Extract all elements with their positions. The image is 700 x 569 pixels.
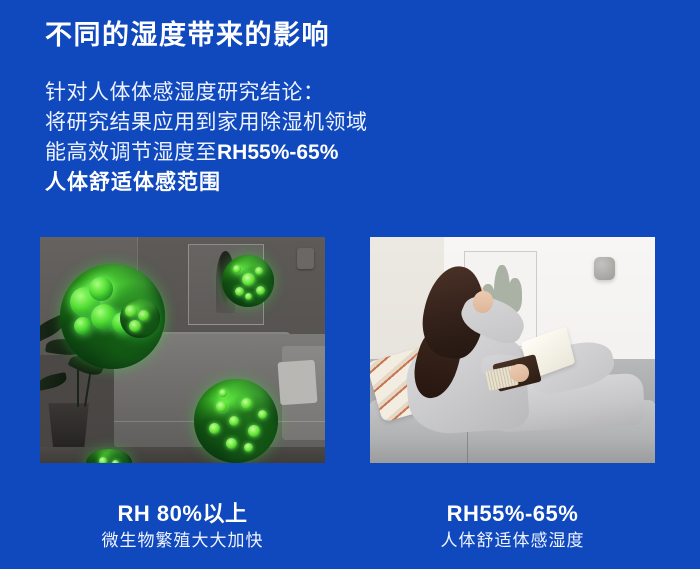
photo-comfort-humidity [370, 237, 655, 463]
microbe-dot [99, 457, 107, 463]
microbe-dot [229, 416, 239, 426]
plant-leaf [40, 372, 68, 391]
microbe-dot [255, 267, 263, 275]
body-line-1: 针对人体体感湿度研究结论： [45, 78, 368, 108]
dark-living-room-scene [40, 237, 325, 463]
microbe-dot [248, 425, 260, 437]
microbe-cluster-edge [120, 298, 160, 338]
microbe-dot [241, 398, 252, 409]
microbe-sphere-top [222, 255, 274, 307]
body-line-3-prefix: 能高效调节湿度至 [45, 141, 217, 164]
wall-thermostat [594, 257, 615, 280]
sofa-cushion [278, 360, 318, 405]
microbe-dot [258, 410, 267, 419]
microbe-dot [125, 305, 137, 317]
body-copy: 针对人体体感湿度研究结论： 将研究结果应用到家用除湿机领域 能高效调节湿度至RH… [45, 78, 368, 198]
bright-living-room-scene [370, 237, 655, 463]
photo-high-humidity [40, 237, 325, 463]
microbe-dot [235, 287, 244, 296]
woman-hand-on-book [510, 364, 529, 382]
caption-title: RH55%-65% [370, 500, 655, 528]
caption-title: RH 80%以上 [40, 500, 325, 528]
body-line-4: 人体舒适体感范围 [45, 168, 368, 198]
body-line-3-highlight: RH55%-65% [217, 141, 338, 164]
floor-baseboard [40, 447, 325, 463]
body-line-3: 能高效调节湿度至RH55%-65% [45, 138, 368, 168]
caption-comfort-humidity: RH55%-65% 人体舒适体感湿度 [370, 500, 655, 554]
plant-stem [77, 365, 79, 407]
microbe-dot [226, 438, 237, 449]
plant-pot [46, 403, 92, 447]
microbe-dot [129, 320, 141, 332]
caption-subtitle: 微生物繁殖大大加快 [40, 528, 325, 554]
microbe-dot [242, 273, 255, 286]
microbe-sphere-bottom [194, 379, 278, 463]
microbe-dot [138, 310, 149, 321]
page-title: 不同的湿度带来的影响 [45, 19, 330, 51]
microbe-dot [209, 423, 220, 434]
microbe-dot [245, 293, 252, 300]
microbe-dot [233, 265, 241, 273]
microbe-dot [219, 389, 227, 397]
microbe-dot [216, 401, 227, 412]
humidity-infographic-poster: 不同的湿度带来的影响 针对人体体感湿度研究结论： 将研究结果应用到家用除湿机领域… [0, 0, 700, 569]
microbe-sphere-small [86, 449, 132, 463]
caption-high-humidity: RH 80%以上 微生物繁殖大大加快 [40, 500, 325, 554]
body-line-2: 将研究结果应用到家用除湿机领域 [45, 108, 368, 138]
microbe-dot [256, 286, 265, 295]
microbe-dot [112, 460, 119, 463]
caption-subtitle: 人体舒适体感湿度 [370, 528, 655, 554]
wall-switch [297, 248, 314, 269]
microbe-blob [74, 317, 92, 335]
microbe-dot [244, 443, 253, 452]
microbe-blob [89, 277, 113, 301]
